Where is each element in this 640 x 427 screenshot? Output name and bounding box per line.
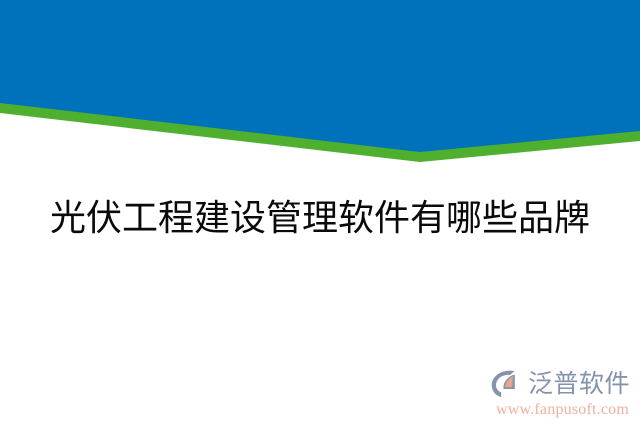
- brand-name: 泛普软件: [528, 369, 630, 399]
- slide-title-block: 光伏工程建设管理软件有哪些品牌: [0, 196, 640, 240]
- fanpu-swoosh-logo-icon: [489, 368, 525, 400]
- brand-url: www.fanpusoft.com: [440, 400, 630, 419]
- brand-lockup: 泛普软件: [440, 367, 630, 401]
- slide-title: 光伏工程建设管理软件有哪些品牌: [50, 196, 590, 240]
- slide-canvas: 光伏工程建设管理软件有哪些品牌 泛普软件 www.fanpusoft.com: [0, 0, 640, 427]
- banner-blue-body: [0, 0, 640, 152]
- header-chevron-banner: [0, 0, 640, 180]
- brand-watermark: 泛普软件 www.fanpusoft.com: [440, 367, 630, 419]
